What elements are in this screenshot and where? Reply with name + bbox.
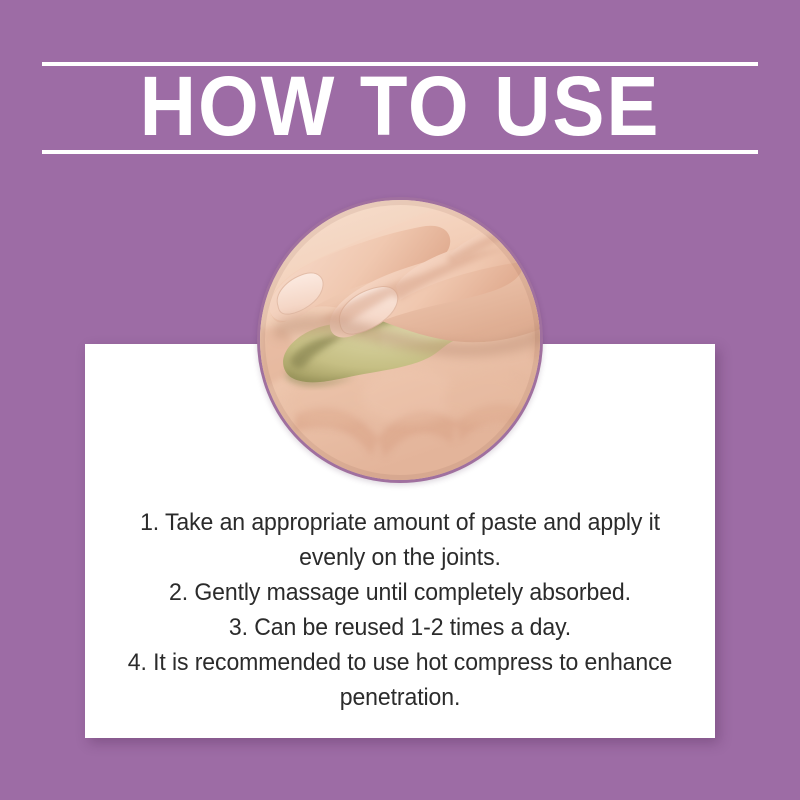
poster-root: HOW TO USE — [0, 0, 800, 800]
title-rule-bottom — [42, 150, 758, 154]
list-item: 4. It is recommended to use hot compress… — [98, 645, 703, 715]
hand-applying-paste-photo — [257, 197, 543, 483]
list-item: 1. Take an appropriate amount of paste a… — [98, 505, 703, 575]
list-item: 3. Can be reused 1-2 times a day. — [98, 610, 703, 645]
page-title: HOW TO USE — [28, 64, 772, 148]
photo-illustration — [260, 200, 540, 480]
instructions-list: 1. Take an appropriate amount of paste a… — [85, 505, 715, 715]
list-item: 2. Gently massage until completely absor… — [98, 575, 703, 610]
